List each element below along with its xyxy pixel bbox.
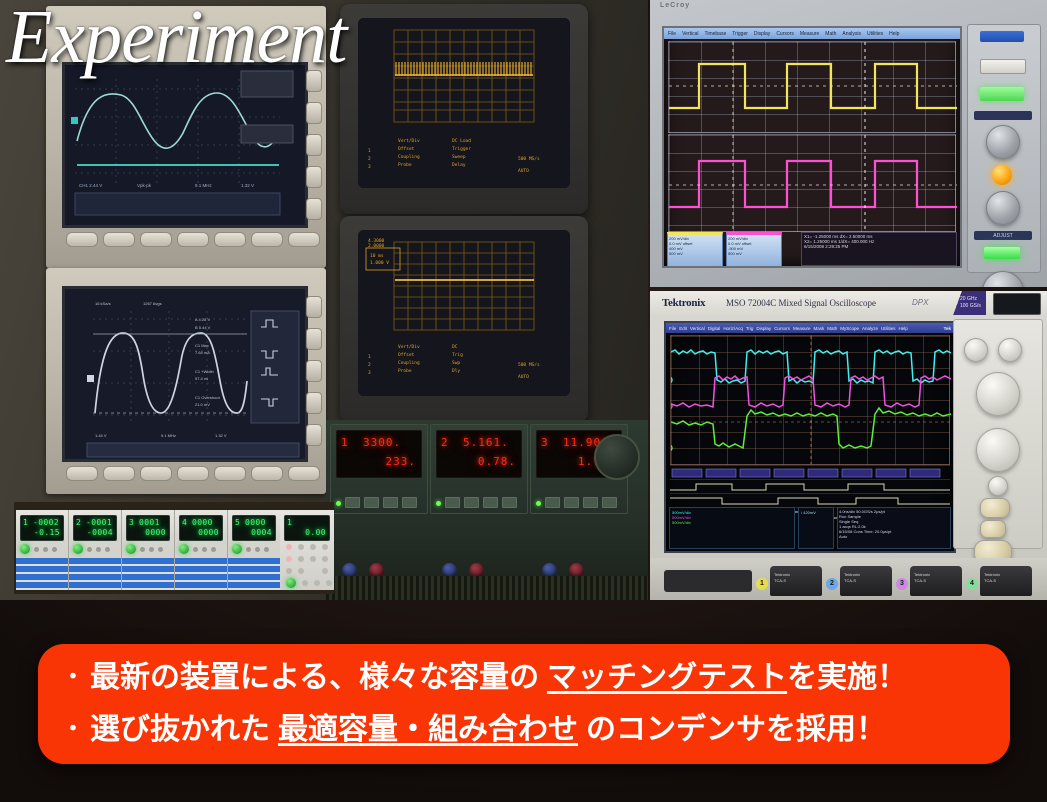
- amber-crt-2-waveform: 4.30002.0000 10 ms1.000 V Vert/DivOffset…: [358, 230, 570, 396]
- softkey[interactable]: [140, 466, 172, 481]
- caption-line-2: ・ 選び抜かれた 最適容量・組み合わせ のコンデンサを採用！: [56, 704, 1010, 756]
- lecroy-knob-lower[interactable]: [986, 191, 1020, 225]
- bench-psu-display: 4 0000 0000: [179, 515, 223, 541]
- caption-line-1-emphasis: マッチングテスト: [547, 652, 787, 704]
- caption-line-1: ・ 最新の装置による、様々な容量の マッチングテスト を実施！: [56, 652, 1010, 704]
- bench-psu-channel: 1: [23, 518, 28, 527]
- menu-item-mask[interactable]: Mask: [813, 326, 824, 331]
- bench-psu-button[interactable]: [87, 547, 92, 552]
- psu-button[interactable]: [345, 497, 360, 508]
- psu-led-indicator: [436, 501, 441, 506]
- psu-led-value: 5.161.: [463, 436, 509, 449]
- svg-text:Dly: Dly: [452, 368, 460, 374]
- bench-psu-output-knob[interactable]: [20, 544, 30, 554]
- lecroy-oscilloscope-photo: LeCroy File Vertical Timebase Trigger Di…: [650, 0, 1047, 287]
- psu-button[interactable]: [583, 497, 598, 508]
- controller-keypad-button[interactable]: [322, 556, 328, 562]
- psu-button[interactable]: [364, 497, 379, 508]
- lecroy-cursor-readout: X1= -1.25000 ms dX= 2.50000 msX2= 1.2500…: [801, 232, 957, 266]
- psu-button[interactable]: [402, 497, 417, 508]
- scope-a-waveform: CH1 2.44 VVpk-pk 9.1 MHz1.32 V: [65, 65, 305, 225]
- bench-psu-display: 5 0000 0004: [232, 515, 276, 541]
- bench-psu-controls[interactable]: [126, 542, 170, 556]
- svg-text:500 MS/s: 500 MS/s: [518, 156, 540, 162]
- svg-text:57.4 ns: 57.4 ns: [195, 376, 208, 381]
- bench-psu-channel: 3: [129, 518, 134, 527]
- tektronix-trigger-panel: / 420mV: [798, 507, 834, 549]
- svg-text:21.0 mV: 21.0 mV: [195, 402, 210, 407]
- probe-label: TektronixTCA-S: [774, 572, 790, 584]
- lecroy-brand-label: LeCroy: [660, 2, 690, 9]
- tek-knob-vertical-position[interactable]: [998, 338, 1022, 362]
- sidekey[interactable]: [306, 360, 322, 382]
- lecroy-white-button[interactable]: [980, 59, 1026, 74]
- menu-item-math[interactable]: Math: [827, 326, 837, 331]
- bench-psu-button[interactable]: [52, 547, 57, 552]
- svg-text:DC Load: DC Load: [452, 138, 471, 144]
- softkey[interactable]: [177, 466, 209, 481]
- caption-line-2-emphasis: 最適容量・組み合わせ: [278, 704, 578, 756]
- scope-a-screen: CH1 2.44 VVpk-pk 9.1 MHz1.32 V: [62, 62, 308, 228]
- bench-psu-channel: 2: [76, 518, 81, 527]
- lecroy-adjust-label: ADJUST: [974, 231, 1032, 240]
- svg-text:7.64 mA: 7.64 mA: [195, 350, 210, 355]
- sidekey[interactable]: [306, 296, 322, 318]
- svg-text:10 ms: 10 ms: [370, 253, 384, 259]
- rack-heatsink: [326, 576, 648, 600]
- lecroy-amber-indicator[interactable]: [992, 165, 1012, 185]
- bench-psu-module[interactable]: 4 0000 0000: [175, 510, 228, 590]
- softkey[interactable]: [214, 466, 246, 481]
- tek-knob-vertical-scale[interactable]: [964, 338, 988, 362]
- psu-led-indicator: [536, 501, 541, 506]
- svg-text:Offset: Offset: [398, 146, 415, 152]
- svg-text:2: 2: [368, 362, 371, 368]
- lecroy-grid-lower: [668, 134, 956, 232]
- menu-item-display[interactable]: Display: [754, 31, 770, 37]
- tektronix-oscilloscope-photo: Tektronix MSO 72004C Mixed Signal Oscill…: [650, 291, 1047, 600]
- menu-item-utilities[interactable]: Utilities: [867, 31, 883, 37]
- caption-callout: ・ 最新の装置による、様々な容量の マッチングテスト を実施！ ・ 選び抜かれた…: [38, 644, 1010, 764]
- tek-knob-trigger-level[interactable]: [976, 428, 1020, 472]
- tektronix-graticule: [670, 335, 950, 465]
- probe-module-2[interactable]: 2 TektronixTCA-S: [840, 566, 892, 596]
- bench-psu-controls[interactable]: [179, 542, 223, 556]
- psu-buttons[interactable]: [536, 482, 622, 508]
- svg-text:Coupling: Coupling: [398, 154, 420, 160]
- menu-item-file[interactable]: File: [669, 326, 676, 331]
- bench-psu-row2: -0004: [87, 528, 113, 537]
- bench-psu-row1: 0001: [139, 518, 160, 527]
- svg-text:AUTO: AUTO: [518, 374, 529, 380]
- bench-psu-module[interactable]: 5 0000 0004: [228, 510, 281, 590]
- svg-text:C1 Max: C1 Max: [195, 343, 209, 348]
- tektronix-footer: 500mV/div 500mV/div 500mV/div / 420mV 4.…: [669, 507, 951, 549]
- amber-crt-1-screen: Vert/DivOffset CouplingProbe DC LoadTrig…: [358, 18, 570, 188]
- bench-psu-button[interactable]: [264, 547, 269, 552]
- menu-item-vertical[interactable]: Vertical: [690, 326, 705, 331]
- psu-buttons[interactable]: [336, 482, 422, 508]
- svg-text:2.0000: 2.0000: [368, 243, 385, 249]
- probe-module-1[interactable]: 1 TektronixTCA-S: [770, 566, 822, 596]
- psu-button[interactable]: [564, 497, 579, 508]
- digital-trace-d0: [670, 481, 950, 493]
- menu-item-trigger[interactable]: Trigger: [732, 31, 748, 37]
- svg-text:1.44 V: 1.44 V: [95, 433, 107, 438]
- svg-text:3: 3: [368, 370, 371, 376]
- softkey[interactable]: [103, 232, 135, 247]
- bench-psu-controls[interactable]: [73, 542, 117, 556]
- tektronix-front-panel[interactable]: [953, 319, 1043, 549]
- bench-psu-row2: 0000: [198, 528, 219, 537]
- probe-module-3[interactable]: 3 TektronixTCA-S: [910, 566, 962, 596]
- svg-text:Coupling: Coupling: [398, 360, 420, 366]
- lecroy-menubar[interactable]: File Vertical Timebase Trigger Display C…: [664, 28, 960, 39]
- tek-button-beige-mid[interactable]: [980, 520, 1006, 538]
- bench-psu-button[interactable]: [96, 547, 101, 552]
- svg-text:9.1 MHz: 9.1 MHz: [195, 183, 213, 188]
- bench-psu-button[interactable]: [202, 547, 207, 552]
- bullet-icon: ・: [56, 652, 90, 704]
- psu-button[interactable]: [502, 497, 517, 508]
- bench-psu-module[interactable]: 1 -0002 -0.15: [16, 510, 69, 590]
- psu-button[interactable]: [602, 497, 617, 508]
- tektronix-model-label: MSO 72004C Mixed Signal Oscilloscope: [726, 298, 876, 308]
- bench-psu-controls[interactable]: [232, 542, 276, 556]
- bench-psu-button[interactable]: [211, 547, 216, 552]
- tektronix-digital-row-d0: [670, 479, 950, 493]
- sidekey[interactable]: [306, 328, 322, 350]
- menu-item-edit[interactable]: Edit: [679, 326, 687, 331]
- bench-psu-output-knob[interactable]: [73, 544, 83, 554]
- controller-keypad-button[interactable]: [302, 580, 308, 586]
- lecroy-channel-2-trace: [669, 135, 957, 231]
- psu-button[interactable]: [464, 497, 479, 508]
- tektronix-probe-bay: 1 TektronixTCA-S 2 TektronixTCA-S 3 Tekt…: [650, 558, 1047, 600]
- svg-text:C1 Overshoot: C1 Overshoot: [195, 395, 221, 400]
- sidekey[interactable]: [306, 198, 322, 220]
- bench-psu-row2: -0.15: [34, 528, 60, 537]
- psu-button[interactable]: [545, 497, 560, 508]
- bench-psu-channel: 5: [235, 518, 240, 527]
- scope-b-sidekeys[interactable]: [306, 296, 322, 446]
- bench-psu-button[interactable]: [193, 547, 198, 552]
- bench-psu-display: 2 -0001 -0004: [73, 515, 117, 541]
- svg-text:1267 Avgs: 1267 Avgs: [143, 301, 162, 306]
- controller-keypad-button[interactable]: [322, 544, 328, 550]
- menu-item-help[interactable]: Help: [889, 31, 899, 37]
- amber-crt-1-waveform: Vert/DivOffset CouplingProbe DC LoadTrig…: [358, 18, 570, 188]
- menu-item-trig[interactable]: Trig: [746, 326, 754, 331]
- psu-led-indicator: [336, 501, 341, 506]
- bench-psu-row2: 0004: [251, 528, 272, 537]
- scope-a-sidekeys[interactable]: [306, 70, 322, 220]
- controller-keypad-button[interactable]: [326, 580, 332, 586]
- tektronix-digital-row-d1: [670, 493, 950, 507]
- svg-text:1: 1: [368, 354, 371, 360]
- svg-text:Probe: Probe: [398, 162, 412, 168]
- softkey[interactable]: [140, 232, 172, 247]
- psu-led-sub: 0.78.: [478, 455, 516, 468]
- menu-item-myscope[interactable]: MyScope: [840, 326, 859, 331]
- controller-keypad-button[interactable]: [298, 544, 304, 550]
- menu-item-horiz-acq[interactable]: Horiz/Acq: [723, 326, 743, 331]
- menu-item-cursors[interactable]: Cursors: [776, 31, 794, 37]
- svg-text:Trig: Trig: [452, 352, 463, 358]
- tektronix-secondary-display: [993, 293, 1041, 315]
- tektronix-traces: [671, 336, 951, 464]
- svg-text:B 5.44 V: B 5.44 V: [195, 325, 211, 330]
- amber-crt-2-screen: 4.30002.0000 10 ms1.000 V Vert/DivOffset…: [358, 230, 570, 396]
- svg-text:9.1 MHz: 9.1 MHz: [161, 433, 176, 438]
- svg-text:1.000 V: 1.000 V: [370, 260, 389, 266]
- svg-text:AUTO: AUTO: [518, 168, 529, 174]
- bench-psu-button[interactable]: [43, 547, 48, 552]
- scope-b-waveform: 16 kSa/s1267 Avgs A 4.28 VB 5.44 V C1 Ma…: [65, 289, 305, 459]
- scope-b-softkeys[interactable]: [66, 466, 320, 481]
- bench-psu-slots: [228, 558, 280, 590]
- tek-knob-horizontal-scale[interactable]: [976, 372, 1020, 416]
- controller-keypad-button[interactable]: [322, 568, 328, 574]
- tek-knob-set-to-zero[interactable]: [988, 476, 1008, 496]
- caption-line-2-after: のコンデンサを採用！: [586, 704, 886, 756]
- psu-button[interactable]: [483, 497, 498, 508]
- svg-text:Vert/Div: Vert/Div: [398, 138, 420, 144]
- softkey[interactable]: [288, 232, 320, 247]
- photo-collage: CH1 2.44 VVpk-pk 9.1 MHz1.32 V: [0, 0, 1047, 612]
- bench-psu-slots: [175, 558, 227, 590]
- lecroy-screen: File Vertical Timebase Trigger Display C…: [662, 26, 962, 268]
- controller-keypad-button[interactable]: [298, 568, 304, 574]
- amber-crt-monitor-1: Vert/DivOffset CouplingProbe DC LoadTrig…: [340, 4, 588, 214]
- probe-number: 1: [756, 578, 768, 590]
- psu-button[interactable]: [445, 497, 460, 508]
- psu-led-sub: 233.: [386, 455, 417, 468]
- bench-power-supplies-photo: 1 -0002 -0.15 2 -0001 -0004: [14, 502, 334, 594]
- svg-text:DC: DC: [452, 344, 458, 350]
- softkey[interactable]: [251, 466, 283, 481]
- probe-number: 2: [826, 578, 838, 590]
- svg-text:3: 3: [368, 164, 371, 170]
- softkey[interactable]: [103, 466, 135, 481]
- tektronix-dpx-label: DPX: [912, 298, 928, 307]
- bench-psu-button[interactable]: [158, 547, 163, 552]
- controller-keypad-button[interactable]: [286, 556, 292, 562]
- menu-item-display[interactable]: Display: [756, 326, 771, 331]
- bench-psu-channel: 4: [182, 518, 187, 527]
- probe-label: TektronixTCA-S: [914, 572, 930, 584]
- psu-led-channel: 1: [341, 436, 349, 449]
- tektronix-menubar[interactable]: File Edit Vertical Digital Horiz/Acq Tri…: [666, 323, 954, 333]
- lecroy-grid-upper: [668, 41, 956, 133]
- svg-text:Probe: Probe: [398, 368, 412, 374]
- bench-psu-controller-value: 0.00: [305, 528, 326, 537]
- psu-led-channel: 3: [541, 436, 549, 449]
- controller-keypad-button[interactable]: [314, 580, 320, 586]
- bench-psu-controls[interactable]: [20, 542, 64, 556]
- sidekey[interactable]: [306, 102, 322, 124]
- bench-psu-controller[interactable]: 1 0.00: [280, 510, 334, 590]
- softkey[interactable]: [251, 232, 283, 247]
- svg-text:1: 1: [368, 148, 371, 154]
- menu-item-digital[interactable]: Digital: [708, 326, 721, 331]
- menu-item-analyze[interactable]: Analyze: [862, 326, 878, 331]
- svg-text:Vert/Div: Vert/Div: [398, 344, 420, 350]
- lecroy-channel-2-badge[interactable]: 200 mV/div0.0 mV offset-500 mV500 mV: [726, 232, 782, 268]
- bench-psu-button[interactable]: [255, 547, 260, 552]
- slide: CH1 2.44 VVpk-pk 9.1 MHz1.32 V: [0, 0, 1047, 802]
- lecroy-front-panel[interactable]: ADJUST: [967, 24, 1041, 273]
- controller-keypad-button[interactable]: [286, 544, 292, 550]
- bench-psu-row1: 0000: [192, 518, 213, 527]
- tektronix-measurement-panel: 500mV/div 500mV/div 500mV/div: [669, 507, 795, 549]
- svg-text:CH1 2.44 V: CH1 2.44 V: [79, 183, 102, 188]
- softkey[interactable]: [66, 232, 98, 247]
- svg-text:Delay: Delay: [452, 162, 466, 168]
- svg-text:Trigger: Trigger: [452, 146, 471, 152]
- bench-psu-button[interactable]: [149, 547, 154, 552]
- svg-text:1.32 V: 1.32 V: [241, 183, 254, 188]
- sidekey[interactable]: [306, 166, 322, 188]
- svg-text:Offset: Offset: [398, 352, 415, 358]
- sidekey[interactable]: [306, 424, 322, 446]
- page-title: Experiment: [6, 0, 346, 81]
- lecroy-blue-button[interactable]: [980, 31, 1024, 42]
- scope-b-screen: 16 kSa/s1267 Avgs A 4.28 VB 5.44 V C1 Ma…: [62, 286, 308, 462]
- menu-item-math[interactable]: Math: [825, 31, 836, 37]
- psu-led-value: 3300.: [363, 436, 401, 449]
- bench-psu-row1: 0000: [245, 518, 266, 527]
- bench-psu-display: 3 0001 0000: [126, 515, 170, 541]
- psu-led-window: 1 3300. 233.: [336, 430, 422, 478]
- bench-psu-button[interactable]: [34, 547, 39, 552]
- measurement-row-ch3: 500mV/div: [672, 520, 792, 525]
- lecroy-footer: 200 mV/div0.0 mV offset400 mV500 mV 200 …: [667, 232, 957, 264]
- sidekey[interactable]: [306, 392, 322, 414]
- bench-psu-controller-channel: 1: [287, 518, 292, 527]
- psu-rack: 1 3300. 233. 2 5.161.: [326, 420, 648, 600]
- bench-psu-output-knob[interactable]: [232, 544, 242, 554]
- lecroy-green-indicator: [984, 247, 1020, 259]
- tek-button-beige-upper[interactable]: [980, 498, 1010, 518]
- lecroy-panel-bar: [974, 111, 1032, 120]
- tektronix-bus-row: [670, 465, 950, 479]
- controller-keypad-button[interactable]: [298, 556, 304, 562]
- bench-psu-slots: [69, 558, 121, 590]
- rack-rotary-knob[interactable]: [594, 434, 640, 480]
- tektronix-bandwidth-label: 20 GHz100 GS/s: [960, 296, 981, 310]
- bench-psu-slots: [122, 558, 174, 590]
- bench-psu-row1: -0001: [86, 518, 112, 527]
- svg-text:16 kSa/s: 16 kSa/s: [95, 301, 111, 306]
- digital-trace-d1: [670, 495, 950, 507]
- controller-keypad-button[interactable]: [286, 568, 292, 574]
- menu-item-utilities[interactable]: Utilities: [881, 326, 896, 331]
- lecroy-green-button[interactable]: [980, 87, 1024, 101]
- bench-psu-module[interactable]: 2 -0001 -0004: [69, 510, 122, 590]
- probe-number: 3: [896, 578, 908, 590]
- svg-text:A 4.28 V: A 4.28 V: [195, 317, 210, 322]
- probe-label: TektronixTCA-S: [984, 572, 1000, 584]
- menu-item-measure[interactable]: Measure: [793, 326, 811, 331]
- psu-led-channel: 2: [441, 436, 449, 449]
- softkey[interactable]: [66, 466, 98, 481]
- psu-module[interactable]: 1 3300. 233.: [330, 424, 428, 514]
- scope-a-softkeys[interactable]: [66, 232, 320, 247]
- probe-bay-slot: [664, 570, 752, 592]
- bench-psu-module[interactable]: 3 0001 0000: [122, 510, 175, 590]
- bench-psu-button[interactable]: [246, 547, 251, 552]
- psu-button[interactable]: [383, 497, 398, 508]
- lecroy-channel-1-trace: [669, 42, 957, 132]
- probe-label: TektronixTCA-S: [844, 572, 860, 584]
- bench-psu-row1: -0002: [33, 518, 59, 527]
- caption-line-2-before: 選び抜かれた: [90, 704, 270, 756]
- controller-output-knob[interactable]: [286, 578, 296, 588]
- tektronix-screen: File Edit Vertical Digital Horiz/Acq Tri…: [664, 321, 956, 553]
- svg-text:Swp: Swp: [452, 360, 460, 366]
- controller-keypad-button[interactable]: [310, 544, 316, 550]
- svg-text:Sweep: Sweep: [452, 154, 466, 160]
- menu-item-cursors[interactable]: Cursors: [774, 326, 790, 331]
- menu-item-timebase[interactable]: Timebase: [704, 31, 726, 37]
- svg-text:2: 2: [368, 156, 371, 162]
- svg-text:500 MS/s: 500 MS/s: [518, 362, 540, 368]
- tektronix-brand-label: Tektronix: [662, 297, 705, 309]
- softkey[interactable]: [288, 466, 320, 481]
- softkey[interactable]: [214, 232, 246, 247]
- tek-logo: Tek: [944, 326, 951, 331]
- caption-line-1-after: を実施！: [787, 652, 907, 704]
- menu-item-vertical[interactable]: Vertical: [682, 31, 698, 37]
- menu-item-file[interactable]: File: [668, 31, 676, 37]
- caption-line-1-before: 最新の装置による、様々な容量の: [90, 652, 539, 704]
- tektronix-status-panel: 4.0ns/div 50.0GS/s 2μs/ptRun SampleSingl…: [837, 507, 951, 549]
- bench-psu-output-knob[interactable]: [179, 544, 189, 554]
- bench-psu-button[interactable]: [105, 547, 110, 552]
- svg-text:1.32 V: 1.32 V: [215, 433, 227, 438]
- bench-psu-slots: [16, 558, 68, 590]
- sidekey[interactable]: [306, 134, 322, 156]
- bench-psu-controller-display: 1 0.00: [284, 515, 330, 541]
- bench-psu-button[interactable]: [140, 547, 145, 552]
- bench-psu-output-knob[interactable]: [126, 544, 136, 554]
- menu-item-measure[interactable]: Measure: [800, 31, 819, 37]
- psu-buttons[interactable]: [436, 482, 522, 508]
- bus-decode-trace: [670, 467, 950, 479]
- menu-item-analysis[interactable]: Analysis: [842, 31, 861, 37]
- svg-text:C1 +Width: C1 +Width: [195, 369, 214, 374]
- probe-module-4[interactable]: 4 TektronixTCA-S: [980, 566, 1032, 596]
- menu-item-help[interactable]: Help: [899, 326, 908, 331]
- lecroy-knob-upper[interactable]: [986, 125, 1020, 159]
- psu-module[interactable]: 2 5.161. 0.78.: [430, 424, 528, 514]
- softkey[interactable]: [177, 232, 209, 247]
- probe-number: 4: [966, 578, 978, 590]
- lecroy-channel-1-badge[interactable]: 200 mV/div0.0 mV offset400 mV500 mV: [667, 232, 723, 268]
- bullet-icon: ・: [56, 704, 90, 756]
- amber-crt-monitor-2: 4.30002.0000 10 ms1.000 V Vert/DivOffset…: [340, 216, 588, 422]
- bench-psu-row2: 0000: [145, 528, 166, 537]
- controller-keypad-button[interactable]: [310, 556, 316, 562]
- bench-psu-display: 1 -0002 -0.15: [20, 515, 64, 541]
- psu-led-window: 2 5.161. 0.78.: [436, 430, 522, 478]
- svg-text:Vpk-pk: Vpk-pk: [137, 183, 152, 188]
- trigger-level-label: / 420mV: [799, 508, 833, 517]
